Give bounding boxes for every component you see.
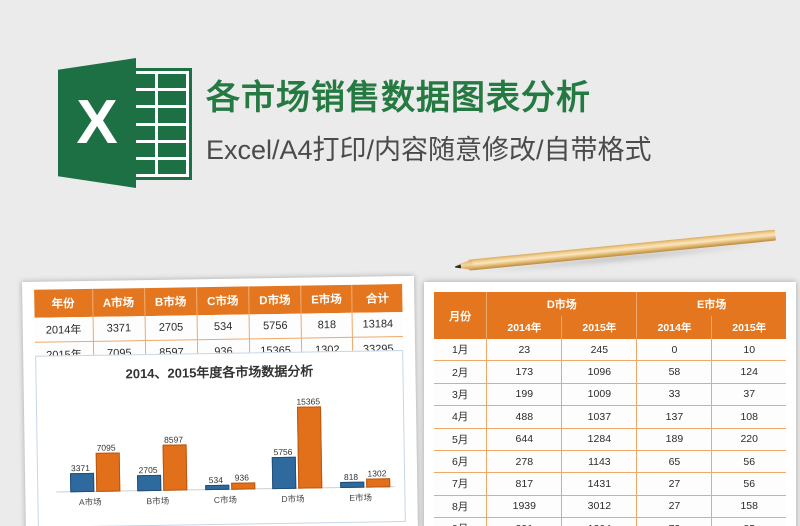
col-header-market-d: D市场 [249, 286, 302, 315]
logo-letter-x: X [58, 58, 136, 188]
cell-e-2015: 56 [712, 473, 786, 495]
cell-e-2014: 27 [637, 473, 712, 495]
cell-e-2014: 58 [637, 361, 712, 383]
col-header-e-2014: 2014年 [637, 316, 712, 339]
cell-month: 9月 [434, 518, 487, 526]
group-header-market-d: D市场 [487, 292, 637, 316]
category-label: C市场 [197, 493, 253, 506]
cell-d-2015: 1431 [562, 473, 637, 495]
cell-e-2014: 33 [637, 383, 712, 405]
table-row: 3月19910093337 [434, 383, 786, 405]
cell-d-2015: 1009 [562, 383, 637, 405]
bar-value-label: 15365 [288, 397, 328, 408]
cell-d-2014: 817 [487, 473, 562, 495]
bar-2015 [366, 479, 390, 488]
cell-market-b: 2705 [145, 315, 198, 340]
cell-e-2015: 220 [712, 428, 786, 450]
col-header-market-b: B市场 [144, 287, 197, 316]
table-row: 1月23245010 [434, 339, 786, 361]
bar-value-label: 7095 [86, 443, 126, 454]
table-row: 2月173109658124 [434, 361, 786, 383]
category-label: A市场 [62, 496, 118, 509]
cell-month: 8月 [434, 495, 487, 517]
cell-d-2014: 173 [487, 361, 562, 383]
cell-d-2014: 23 [487, 339, 562, 361]
right-paper-sheet: 月份 D市场 E市场 2014年 2015年 2014年 2015年 1月232… [424, 282, 796, 526]
table-row: 5月6441284189220 [434, 428, 786, 450]
bar-2014 [205, 485, 229, 490]
cell-year: 2014年 [35, 317, 93, 342]
category-label: B市场 [130, 494, 186, 507]
col-header-d-2014: 2014年 [487, 316, 562, 339]
table-row: 8月1939301227158 [434, 495, 786, 517]
table-row: 6月27811436556 [434, 450, 786, 472]
bar-2014 [340, 481, 364, 488]
col-header-market-a: A市场 [92, 288, 145, 317]
cell-d-2014: 1939 [487, 495, 562, 517]
bar-2015 [231, 483, 255, 490]
table-group-header-row: 月份 D市场 E市场 [434, 292, 786, 316]
cell-e-2014: 189 [637, 428, 712, 450]
cell-month: 1月 [434, 339, 487, 361]
category-label: E市场 [333, 491, 389, 504]
monthly-table-body: 1月232450102月1731096581243月199100933374月4… [434, 339, 786, 526]
table-row: 9月29112047285 [434, 518, 786, 526]
bar-2015 [95, 453, 120, 492]
cell-total: 13184 [352, 312, 403, 337]
group-header-market-e: E市场 [637, 292, 786, 316]
col-header-month: 月份 [434, 292, 487, 339]
col-header-year: 年份 [34, 289, 93, 318]
cell-month: 6月 [434, 450, 487, 472]
cell-d-2015: 1204 [562, 518, 637, 526]
bar-2015 [163, 444, 188, 491]
cell-d-2014: 488 [487, 406, 562, 428]
cell-market-e: 818 [301, 313, 352, 338]
cell-market-a: 3371 [93, 316, 146, 341]
cell-e-2015: 158 [712, 495, 786, 517]
cell-month: 7月 [434, 473, 487, 495]
bar-group: 534936 [203, 388, 245, 491]
bar-2015 [297, 407, 322, 489]
cell-d-2015: 1284 [562, 428, 637, 450]
cell-e-2015: 124 [712, 361, 786, 383]
cell-e-2015: 10 [712, 339, 786, 361]
cell-d-2015: 1037 [562, 406, 637, 428]
cell-month: 3月 [434, 383, 487, 405]
col-header-e-2015: 2015年 [712, 316, 786, 339]
bar-group: 33717095 [68, 390, 110, 493]
bar-2014 [70, 472, 94, 492]
cell-month: 2月 [434, 361, 487, 383]
col-header-total: 合计 [352, 284, 403, 313]
banner: X 各市场销售数据图表分析 Excel/A4打印/内容随意修改/自带格式 [0, 0, 800, 250]
table-header-row: 2014年 2015年 2014年 2015年 [434, 316, 786, 339]
cell-d-2015: 3012 [562, 495, 637, 517]
cell-e-2014: 137 [637, 406, 712, 428]
chart-plot-area: 33717095A市场27058597B市场534936C市场575615365… [55, 385, 395, 492]
cell-d-2014: 644 [487, 428, 562, 450]
monthly-detail-table: 月份 D市场 E市场 2014年 2015年 2014年 2015年 1月232… [434, 292, 786, 526]
table-row: 7月81714312756 [434, 473, 786, 495]
cell-d-2014: 278 [487, 450, 562, 472]
cell-market-d: 5756 [249, 314, 302, 339]
table-row: 4月4881037137108 [434, 406, 786, 428]
cell-d-2015: 1096 [562, 361, 637, 383]
bar-value-label: 8597 [154, 434, 194, 445]
bar-value-label: 1302 [357, 468, 397, 479]
cell-market-c: 534 [197, 314, 250, 339]
col-header-market-c: C市场 [196, 286, 249, 315]
chart-title: 2014、2015年度各市场数据分析 [36, 359, 402, 384]
cell-e-2015: 108 [712, 406, 786, 428]
bar-2014 [272, 457, 296, 489]
cell-e-2014: 65 [637, 450, 712, 472]
page-title: 各市场销售数据图表分析 [206, 70, 591, 119]
category-label: D市场 [265, 492, 321, 505]
col-header-d-2015: 2015年 [562, 316, 637, 339]
market-bar-chart: 2014、2015年度各市场数据分析 33717095A市场27058597B市… [35, 350, 406, 526]
cell-d-2014: 291 [487, 518, 562, 526]
cell-e-2014: 72 [637, 518, 712, 526]
col-header-market-e: E市场 [301, 285, 353, 314]
cell-month: 4月 [434, 406, 487, 428]
cell-month: 5月 [434, 428, 487, 450]
bar-group: 8181302 [339, 385, 381, 488]
cell-d-2014: 199 [487, 383, 562, 405]
screenshot-root: X 各市场销售数据图表分析 Excel/A4打印/内容随意修改/自带格式 年份 … [0, 0, 800, 526]
bar-value-label: 936 [222, 472, 262, 483]
bar-group: 27058597 [136, 389, 178, 492]
cell-e-2015: 56 [712, 450, 786, 472]
bar-group: 575615365 [271, 386, 313, 489]
cell-e-2014: 0 [637, 339, 712, 361]
left-paper-sheet: 年份 A市场 B市场 C市场 D市场 E市场 合计 2014年 3371 270… [22, 276, 418, 526]
bar-2014 [137, 475, 161, 491]
page-subtitle: Excel/A4打印/内容随意修改/自带格式 [206, 128, 652, 167]
excel-logo-icon: X [58, 58, 194, 188]
cell-e-2015: 37 [712, 383, 786, 405]
cell-e-2015: 85 [712, 518, 786, 526]
cell-d-2015: 245 [562, 339, 637, 361]
cell-e-2014: 27 [637, 495, 712, 517]
cell-d-2015: 1143 [562, 450, 637, 472]
